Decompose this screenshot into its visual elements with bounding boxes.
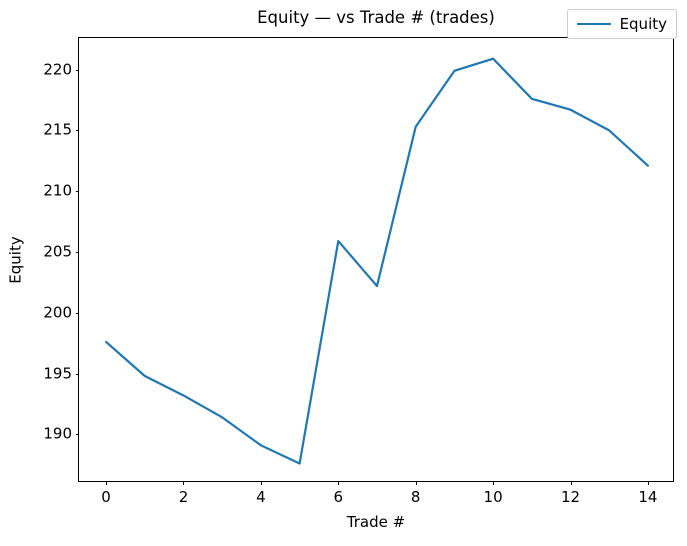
x-tick-mark — [648, 481, 649, 485]
chart-figure: Equity — vs Trade # (trades) Equity 1901… — [0, 0, 687, 546]
x-tick-mark — [493, 481, 494, 485]
legend-label-equity: Equity — [620, 16, 667, 32]
y-tick-mark — [76, 130, 80, 131]
y-axis-label-text: Equity — [7, 236, 25, 283]
x-tick-label: 6 — [334, 489, 344, 505]
y-tick-label: 195 — [43, 366, 72, 381]
y-tick-label: 190 — [43, 427, 72, 442]
y-tick-label: 210 — [43, 184, 72, 199]
x-tick-label: 0 — [101, 489, 111, 505]
x-tick-label: 2 — [179, 489, 189, 505]
y-tick-label: 200 — [43, 305, 72, 320]
series-equity-path — [106, 59, 648, 464]
legend-swatch-equity — [577, 23, 611, 25]
x-tick-mark — [106, 481, 107, 485]
x-tick-label: 14 — [638, 489, 657, 505]
y-tick-mark — [76, 374, 80, 375]
plot-axes: 190195200205210215220 02468101214 — [78, 37, 674, 482]
x-tick-label: 10 — [484, 489, 503, 505]
y-tick-label: 205 — [43, 244, 72, 259]
y-tick-mark — [76, 252, 80, 253]
x-tick-mark — [261, 481, 262, 485]
plot-area — [79, 38, 673, 481]
y-tick-mark — [76, 434, 80, 435]
y-tick-mark — [76, 70, 80, 71]
chart-legend: Equity — [567, 9, 677, 39]
y-tick-label: 215 — [43, 123, 72, 138]
y-axis-label: Equity — [7, 37, 24, 482]
y-tick-mark — [76, 191, 80, 192]
x-tick-mark — [416, 481, 417, 485]
x-tick-label: 8 — [411, 489, 421, 505]
x-tick-mark — [571, 481, 572, 485]
x-tick-mark — [338, 481, 339, 485]
y-tick-mark — [76, 313, 80, 314]
equity-line-series — [79, 38, 673, 481]
x-tick-label: 4 — [256, 489, 266, 505]
x-tick-label: 12 — [561, 489, 580, 505]
x-tick-mark — [183, 481, 184, 485]
y-tick-label: 220 — [43, 62, 72, 77]
x-axis-label: Trade # — [78, 514, 674, 531]
